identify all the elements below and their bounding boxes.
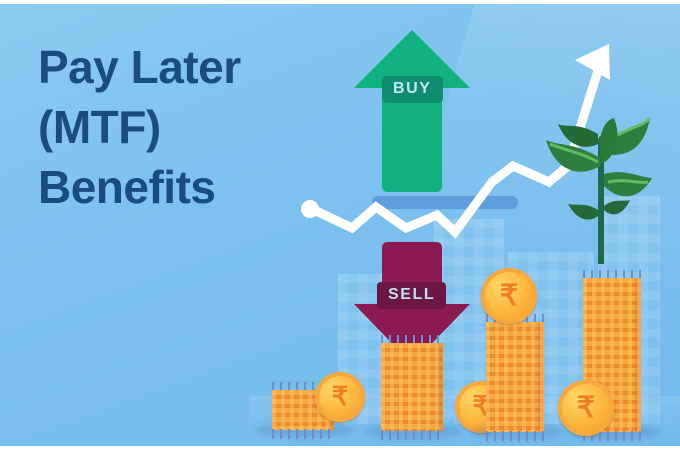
coin-rupee: ₹ bbox=[558, 380, 614, 436]
stack-body bbox=[381, 343, 443, 431]
buy-marker[interactable]: BUY bbox=[352, 26, 472, 194]
coin-rupee: ₹ bbox=[481, 268, 537, 324]
stack-body bbox=[486, 322, 544, 432]
arrow-up-icon bbox=[352, 26, 472, 194]
rupee-symbol: ₹ bbox=[500, 278, 518, 313]
stack-pins bbox=[486, 431, 544, 441]
coin-stack-medium bbox=[381, 341, 443, 431]
stack-pins bbox=[381, 430, 443, 440]
stack-pins bbox=[272, 429, 334, 439]
rupee-symbol: ₹ bbox=[577, 390, 595, 425]
buy-badge: BUY bbox=[382, 76, 443, 103]
coin-stack-large bbox=[486, 320, 544, 432]
growing-plant-icon bbox=[540, 106, 660, 266]
rupee-symbol: ₹ bbox=[332, 381, 349, 412]
top-border bbox=[0, 0, 680, 4]
poster-banner: Pay Later (MTF) Benefits BUY SELL bbox=[0, 0, 680, 450]
bottom-border bbox=[0, 446, 680, 450]
sell-badge: SELL bbox=[377, 282, 446, 309]
coin-rupee: ₹ bbox=[315, 372, 365, 422]
